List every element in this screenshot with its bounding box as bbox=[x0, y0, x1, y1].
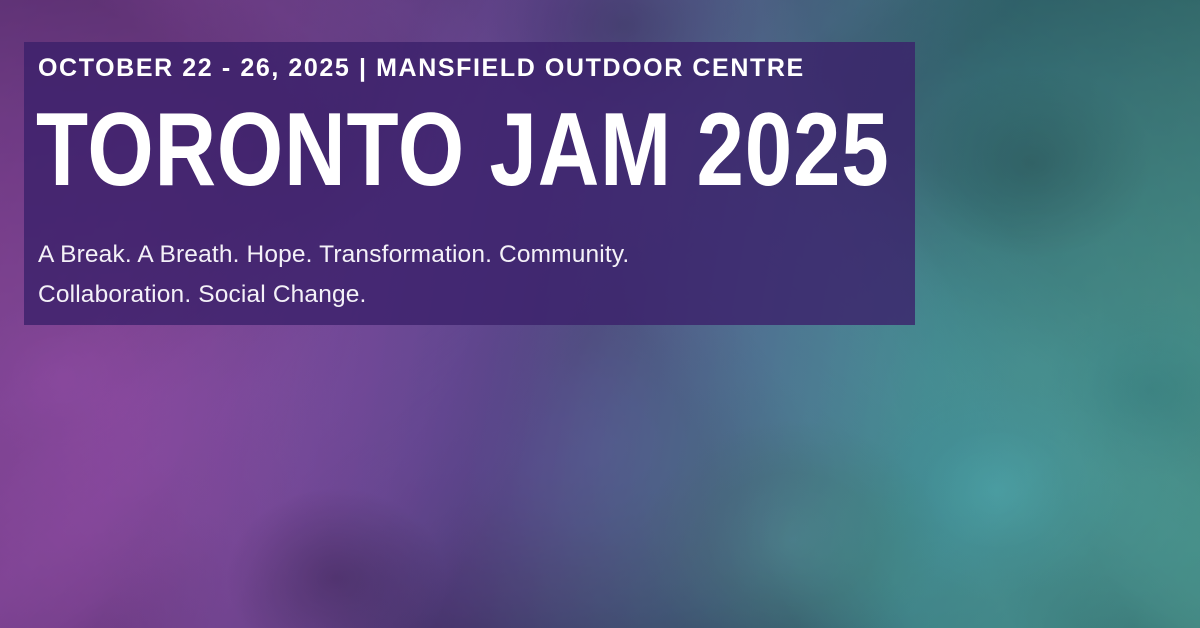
page-title: TORONTO JAM 2025 bbox=[36, 100, 890, 200]
event-date-venue-eyebrow: OCTOBER 22 - 26, 2025 | MANSFIELD OUTDOO… bbox=[38, 55, 805, 83]
event-tagline: A Break. A Breath. Hope. Transformation.… bbox=[38, 235, 838, 315]
event-tagline-line-1: A Break. A Breath. Hope. Transformation.… bbox=[38, 235, 838, 275]
event-poster: OCTOBER 22 - 26, 2025 | MANSFIELD OUTDOO… bbox=[0, 0, 1200, 628]
event-tagline-line-2: Collaboration. Social Change. bbox=[38, 275, 838, 315]
text-overlay-panel: OCTOBER 22 - 26, 2025 | MANSFIELD OUTDOO… bbox=[24, 42, 915, 325]
